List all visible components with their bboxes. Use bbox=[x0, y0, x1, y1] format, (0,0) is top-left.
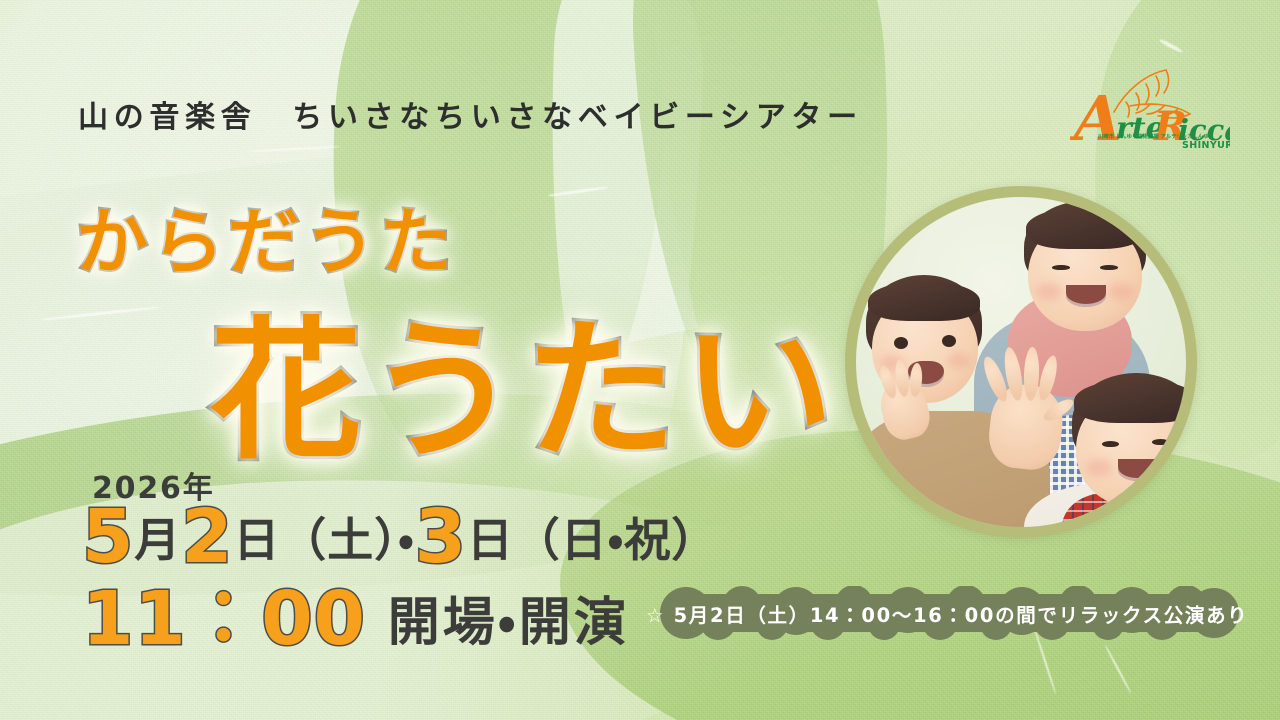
babies-photo-frame bbox=[845, 186, 1197, 538]
poster-canvas: 山の音楽舎 ちいさなちいさなベイビーシアター A rte bbox=[0, 0, 1280, 720]
baby-right-fringe bbox=[1074, 379, 1186, 423]
logo-subtitle: 川崎市 しんゆり芸術劇場 アルテリッカしんゆり bbox=[1098, 134, 1233, 140]
time-colon: ： bbox=[186, 576, 261, 662]
event-date-line: 5月2日（土）・3日（日・祝） bbox=[82, 500, 718, 574]
baby-right-cheek-right bbox=[1158, 457, 1184, 474]
event-series-header: 山の音楽舎 ちいさなちいさなベイビーシアター bbox=[78, 92, 863, 136]
date-day2-suffix: 日（日・祝） bbox=[467, 513, 718, 567]
babies-photo bbox=[856, 197, 1186, 527]
date-day1-number: 2 bbox=[181, 494, 233, 580]
brush-fleck bbox=[40, 306, 160, 322]
baby-left-eye-right bbox=[942, 335, 956, 347]
brush-fleck bbox=[1104, 644, 1132, 694]
brush-fleck bbox=[548, 186, 608, 197]
svg-text:A: A bbox=[1070, 82, 1122, 154]
date-month-kanji: 月 bbox=[134, 513, 181, 567]
event-time-line: 11：00開場・開演 bbox=[82, 582, 629, 656]
baby-top-cheek-left bbox=[1036, 283, 1062, 300]
time-minute: 00 bbox=[261, 576, 365, 662]
date-month-number: 5 bbox=[82, 494, 134, 580]
baby-right-eye-right bbox=[1152, 439, 1169, 445]
main-title-hanautai: 花うたい bbox=[210, 268, 839, 488]
time-label: 開場・開演 bbox=[388, 593, 629, 653]
baby-top-eye-left bbox=[1052, 265, 1070, 270]
time-hour: 11 bbox=[82, 576, 186, 662]
brush-fleck bbox=[250, 146, 340, 153]
date-day2-number: 3 bbox=[415, 494, 467, 580]
baby-left-fringe bbox=[868, 281, 980, 321]
date-day1-suffix: 日（土） bbox=[233, 513, 398, 567]
baby-right-cheek-left bbox=[1086, 459, 1112, 476]
baby-right-mouth bbox=[1118, 459, 1156, 481]
relax-performance-text: ☆ 5月2日（土）14：00〜16：00の間でリラックス公演あり bbox=[646, 599, 1244, 628]
brush-fleck bbox=[1159, 38, 1184, 54]
baby-top-eye-right bbox=[1100, 265, 1118, 270]
svg-text:SHINYURI: SHINYURI bbox=[1182, 140, 1230, 151]
baby-top-cheek-right bbox=[1108, 283, 1134, 300]
baby-right-eye-left bbox=[1102, 441, 1119, 447]
relax-performance-banner: ☆ 5月2日（土）14：00〜16：00の間でリラックス公演あり bbox=[646, 586, 1244, 640]
arte-ricca-logo[interactable]: A rte R icca SHINYURI 川崎市 しんゆり芸術劇場 アルテリッ… bbox=[1070, 62, 1230, 154]
baby-top-mouth bbox=[1066, 285, 1106, 307]
date-separator: ・ bbox=[398, 513, 415, 567]
baby-top-fringe bbox=[1026, 207, 1144, 249]
baby-left-eye-left bbox=[894, 337, 908, 349]
baby-left-cheek-right bbox=[948, 353, 970, 368]
